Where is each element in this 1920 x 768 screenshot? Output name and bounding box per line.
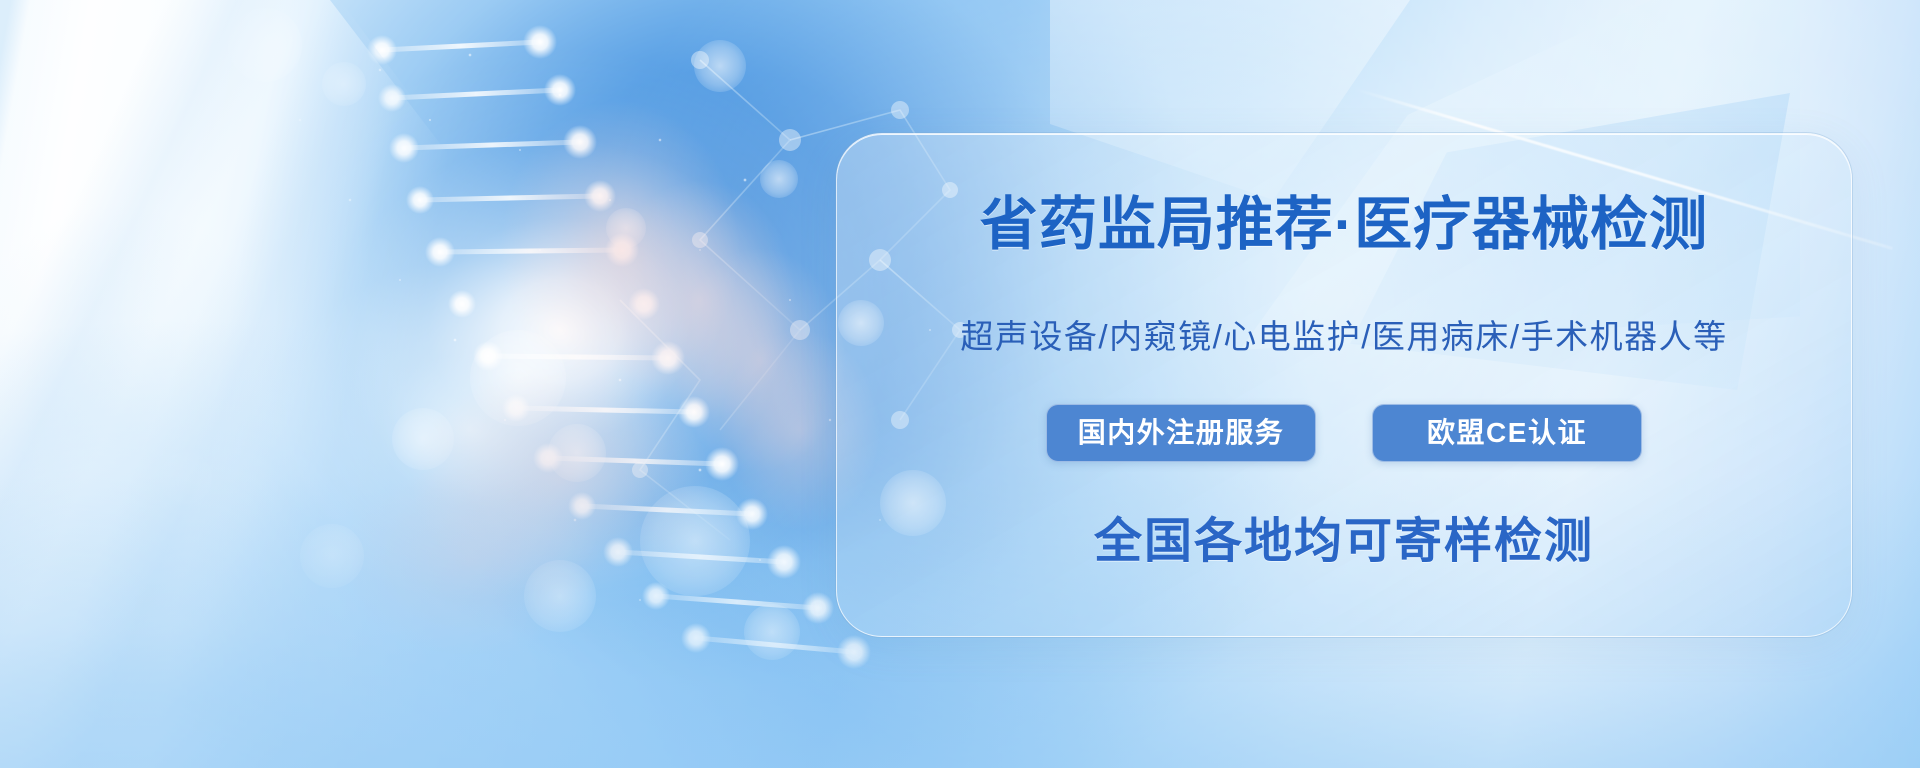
tag-label: 国内外注册服务: [1078, 419, 1285, 447]
tag-label: 欧盟CE认证: [1427, 419, 1587, 447]
tag-registration-service[interactable]: 国内外注册服务: [1046, 404, 1316, 462]
tag-row: 国内外注册服务 欧盟CE认证: [837, 404, 1851, 462]
promotional-banner: 省药监局推荐·医疗器械检测 超声设备/内窥镜/心电监护/医用病床/手术机器人等 …: [0, 0, 1920, 768]
footer-tagline: 全国各地均可寄样检测: [837, 518, 1851, 566]
content-panel: 省药监局推荐·医疗器械检测 超声设备/内窥镜/心电监护/医用病床/手术机器人等 …: [836, 133, 1852, 637]
tag-eu-ce-certification[interactable]: 欧盟CE认证: [1372, 404, 1642, 462]
headline: 省药监局推荐·医疗器械检测: [837, 196, 1851, 254]
subheadline: 超声设备/内窥镜/心电监护/医用病床/手术机器人等: [837, 320, 1851, 353]
